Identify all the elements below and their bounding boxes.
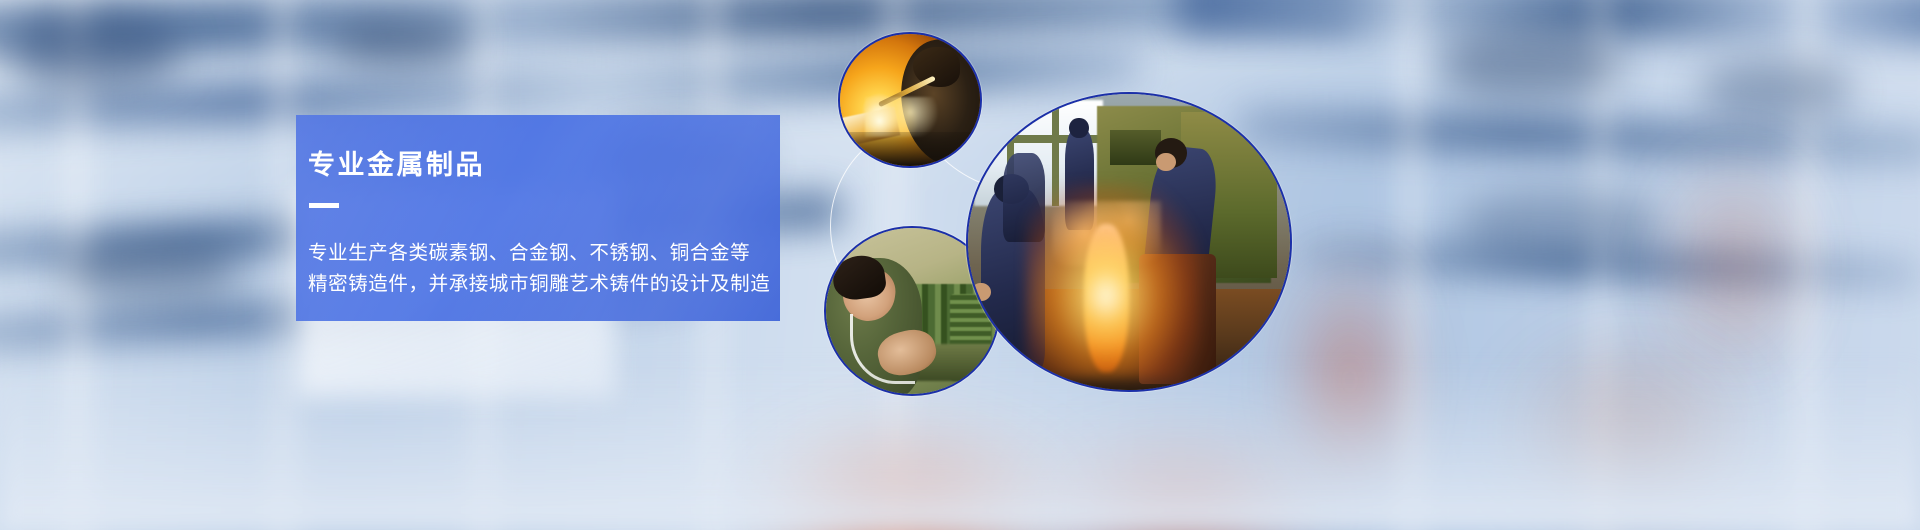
worker-left-hand [971,283,990,301]
hero-text-panel: 专业金属制品 专业生产各类碳素钢、合金钢、不锈钢、铜合金等 精密铸造件，并承接城… [296,115,780,321]
foundry-pour-photo [966,92,1292,392]
background-machine-blob [60,240,240,300]
hero-banner: 专业金属制品 专业生产各类碳素钢、合金钢、不锈钢、铜合金等 精密铸造件，并承接城… [0,0,1920,530]
background-machine-blob [1460,190,1660,260]
worker-head [1069,118,1088,139]
foundry-scene [968,94,1290,390]
welding-scene [840,34,980,166]
worker-right-face [1156,153,1175,171]
background-machine-blob [1700,60,1850,120]
hero-description-line-1: 专业生产各类碳素钢、合金钢、不锈钢、铜合金等 [308,238,780,270]
hero-description-line-2: 精密铸造件，并承接城市铜雕艺术铸件的设计及制造 [308,269,780,301]
welding-shadow [840,132,980,166]
molten-metal-glow [1026,183,1200,378]
page-title: 专业金属制品 [308,151,780,181]
machine-control-panel [1110,130,1162,166]
background-machine-blob [10,10,180,90]
background-machine-blob [330,18,470,66]
welding-photo [838,32,982,168]
background-machine-blob [1440,30,1620,100]
hero-description: 专业生产各类碳素钢、合金钢、不锈钢、铜合金等 精密铸造件，并承接城市铜雕艺术铸件… [308,238,780,301]
title-divider-rule [309,203,339,208]
